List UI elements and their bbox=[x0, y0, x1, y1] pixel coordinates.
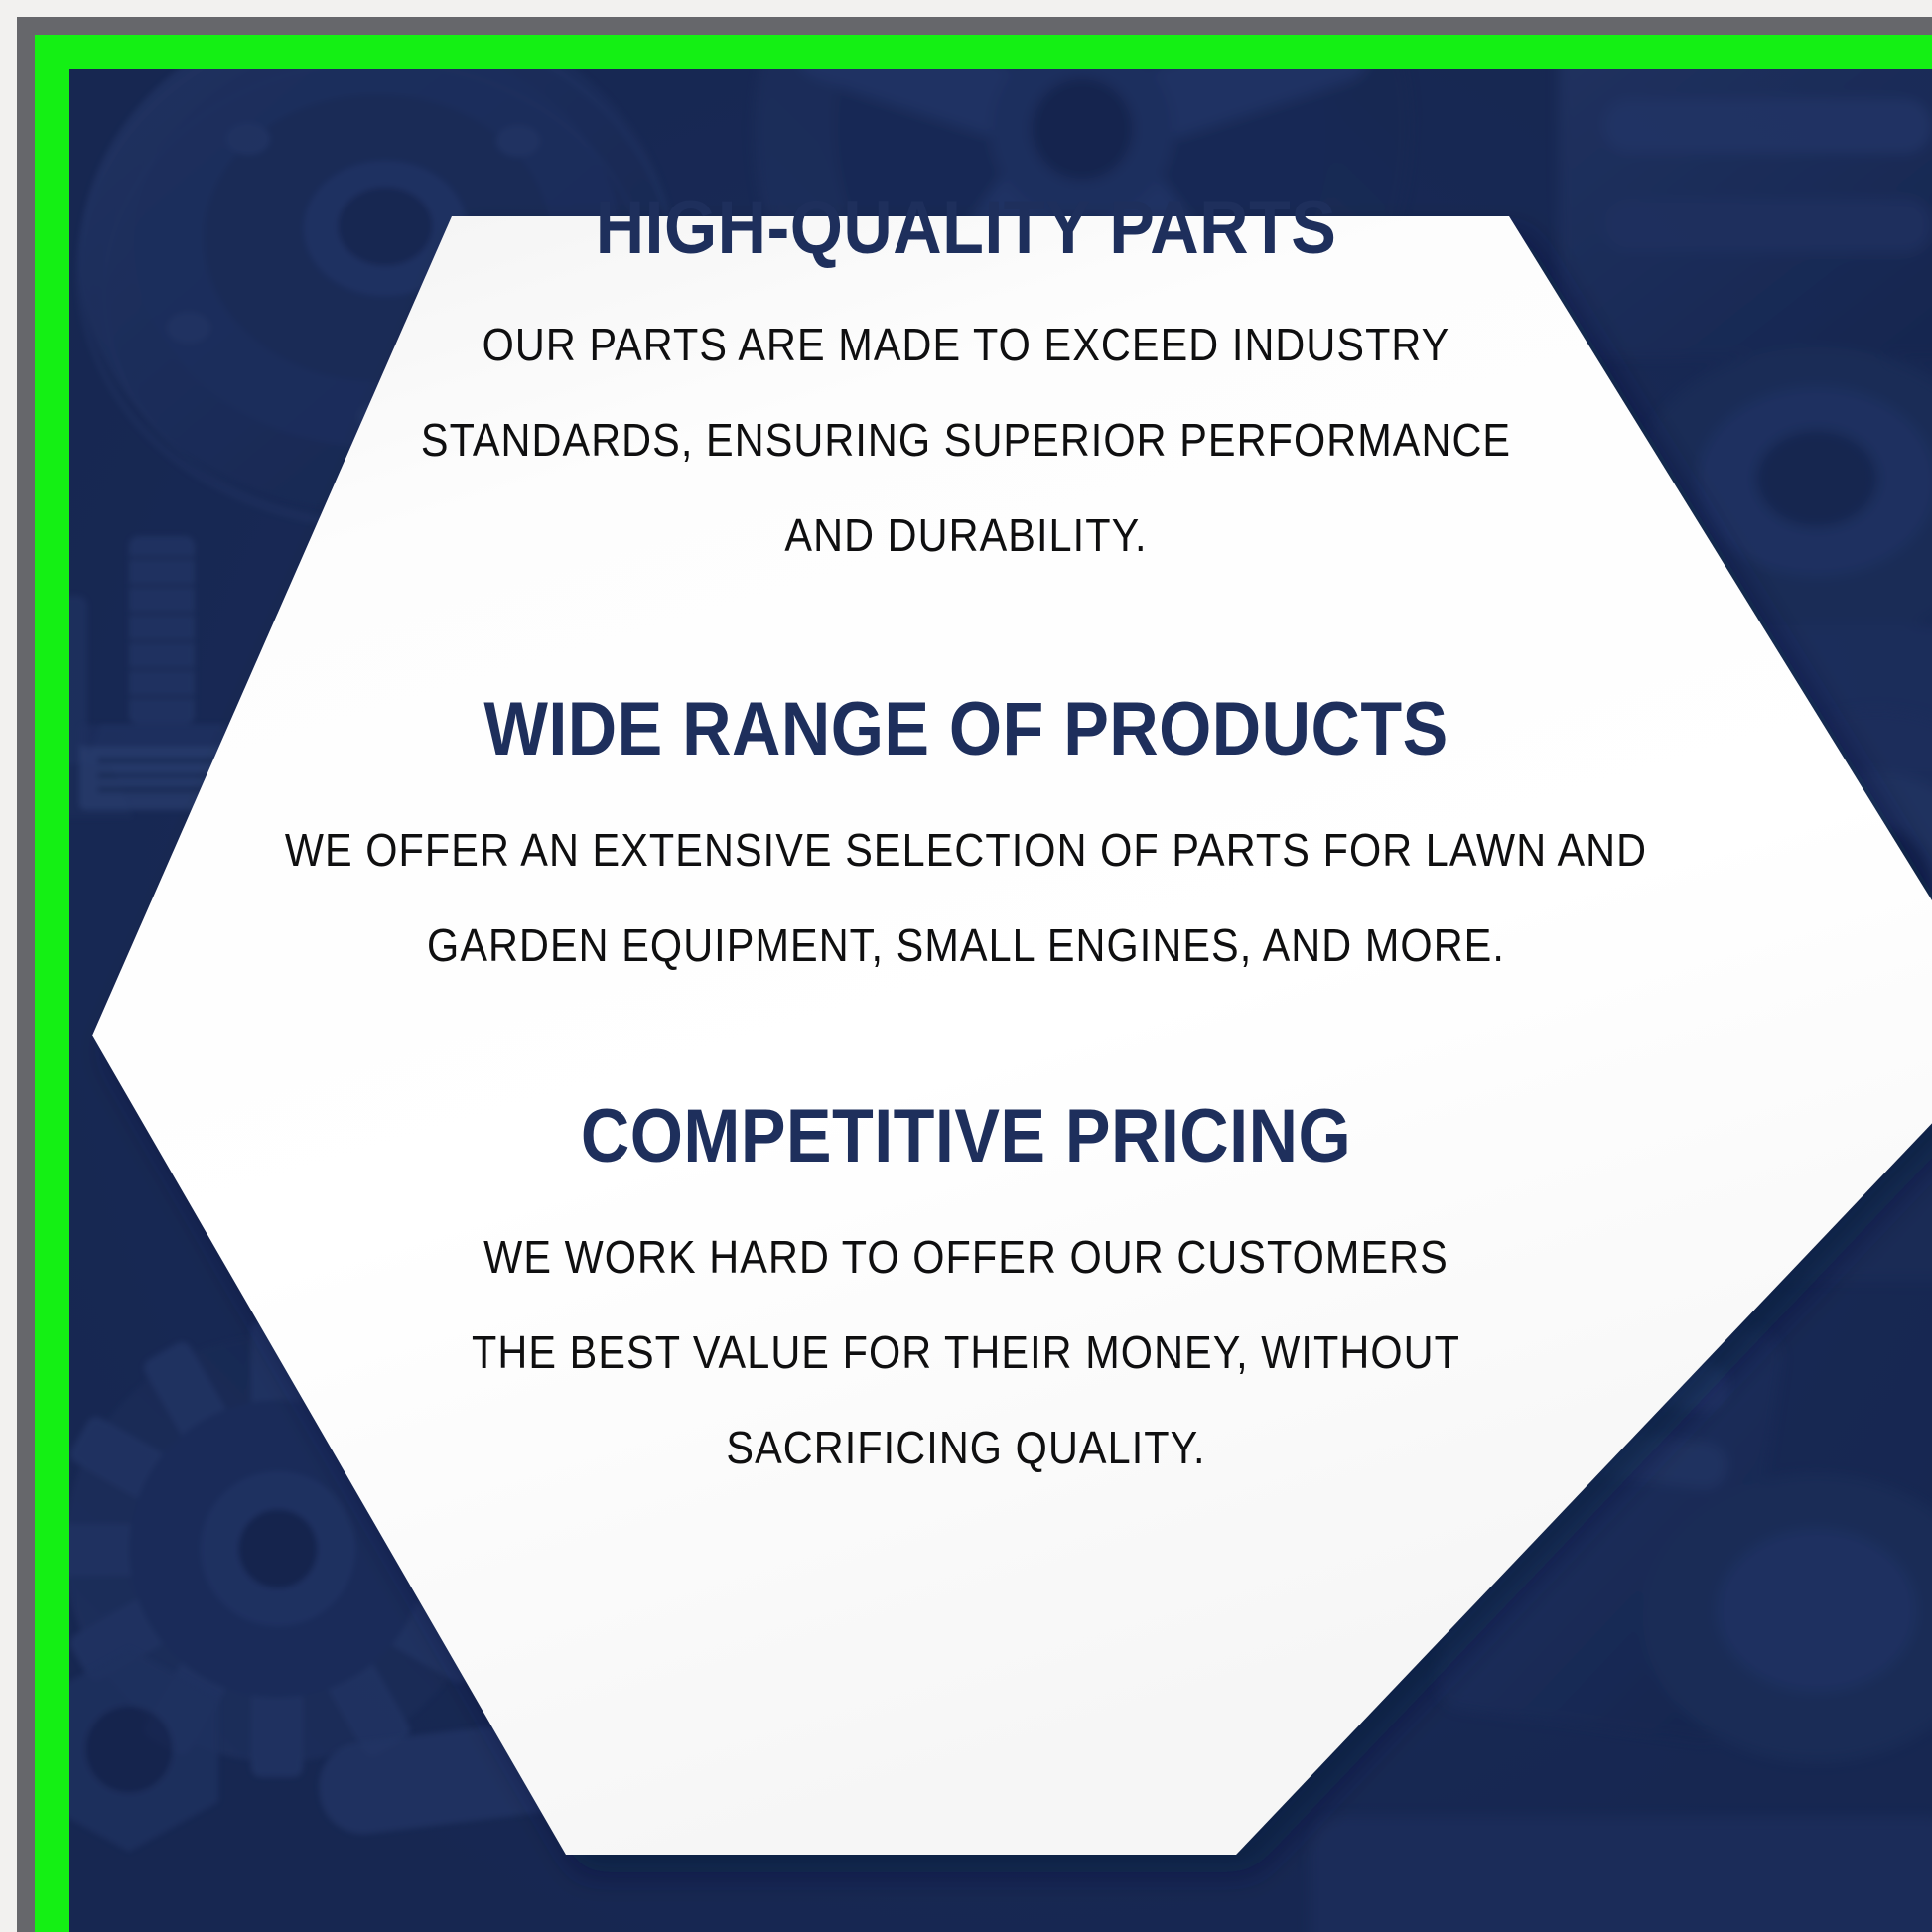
section-heading: WIDE RANGE OF PRODUCTS bbox=[96, 690, 1835, 769]
section-competitive-pricing: COMPETITIVE PRICING WE WORK HARD TO OFFE… bbox=[0, 1097, 1932, 1470]
promotional-poster: HIGH-QUALITY PARTS OUR PARTS ARE MADE TO… bbox=[0, 0, 1932, 1932]
section-wide-range-of-products: WIDE RANGE OF PRODUCTS WE OFFER AN EXTEN… bbox=[0, 690, 1932, 968]
section-body: WE OFFER AN EXTENSIVE SELECTION OF PARTS… bbox=[0, 827, 1932, 968]
body-line: OUR PARTS ARE MADE TO EXCEED INDUSTRY bbox=[96, 322, 1835, 367]
body-line: GARDEN EQUIPMENT, SMALL ENGINES, AND MOR… bbox=[96, 922, 1835, 968]
body-line: AND DURABILITY. bbox=[96, 512, 1835, 558]
section-heading: COMPETITIVE PRICING bbox=[96, 1097, 1835, 1176]
body-line: THE BEST VALUE FOR THEIR MONEY, WITHOUT bbox=[96, 1329, 1835, 1375]
body-line: WE WORK HARD TO OFFER OUR CUSTOMERS bbox=[96, 1234, 1835, 1280]
section-heading: HIGH-QUALITY PARTS bbox=[96, 189, 1835, 268]
body-line: WE OFFER AN EXTENSIVE SELECTION OF PARTS… bbox=[96, 827, 1835, 873]
section-high-quality-parts: HIGH-QUALITY PARTS OUR PARTS ARE MADE TO… bbox=[0, 189, 1932, 558]
section-body: OUR PARTS ARE MADE TO EXCEED INDUSTRY ST… bbox=[0, 322, 1932, 558]
body-line: SACRIFICING QUALITY. bbox=[96, 1425, 1835, 1470]
body-line: STANDARDS, ENSURING SUPERIOR PERFORMANCE bbox=[96, 417, 1835, 463]
section-body: WE WORK HARD TO OFFER OUR CUSTOMERS THE … bbox=[0, 1234, 1932, 1470]
